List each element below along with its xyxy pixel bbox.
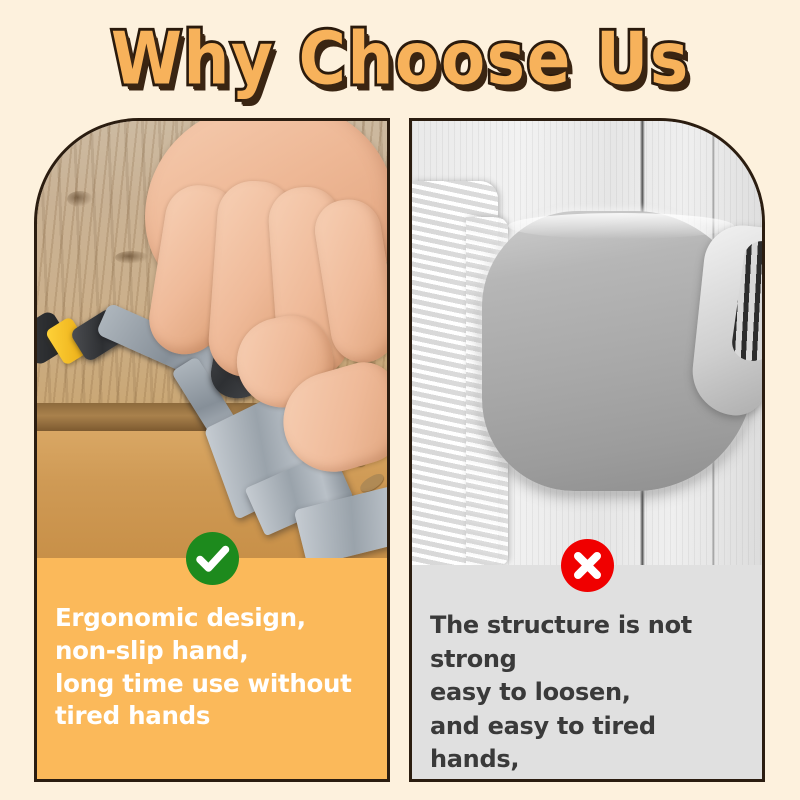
check-circle-icon (186, 532, 239, 585)
con-caption-line-2: easy to loosen, (430, 676, 746, 710)
pro-caption-line-1: Ergonomic design, (55, 602, 371, 635)
con-caption-line-3: and easy to tired hands, (430, 710, 746, 777)
pro-photo (37, 121, 387, 558)
header: Why Choose Us (0, 0, 800, 118)
pro-caption-line-4: tired hands (55, 700, 371, 733)
blade-highlight (508, 213, 734, 239)
comparison-panel-pro: Ergonomic design, non-slip hand, long ti… (34, 118, 390, 782)
con-photo (412, 121, 762, 565)
pro-caption-line-2: non-slip hand, (55, 635, 371, 668)
con-caption-line-4: inconvenient operation (430, 777, 746, 782)
wood-knot (67, 191, 93, 207)
comparison-panels: Ergonomic design, non-slip hand, long ti… (0, 118, 800, 790)
cross-circle-icon (561, 539, 614, 592)
wood-knot (115, 251, 149, 264)
pro-caption: Ergonomic design, non-slip hand, long ti… (37, 558, 387, 779)
con-caption-line-1: The structure is not strong (430, 609, 746, 676)
page-title: Why Choose Us (111, 23, 690, 95)
con-caption: The structure is not strong easy to loos… (412, 565, 762, 779)
comparison-panel-con: The structure is not strong easy to loos… (409, 118, 765, 782)
pro-caption-line-3: long time use without (55, 668, 371, 701)
